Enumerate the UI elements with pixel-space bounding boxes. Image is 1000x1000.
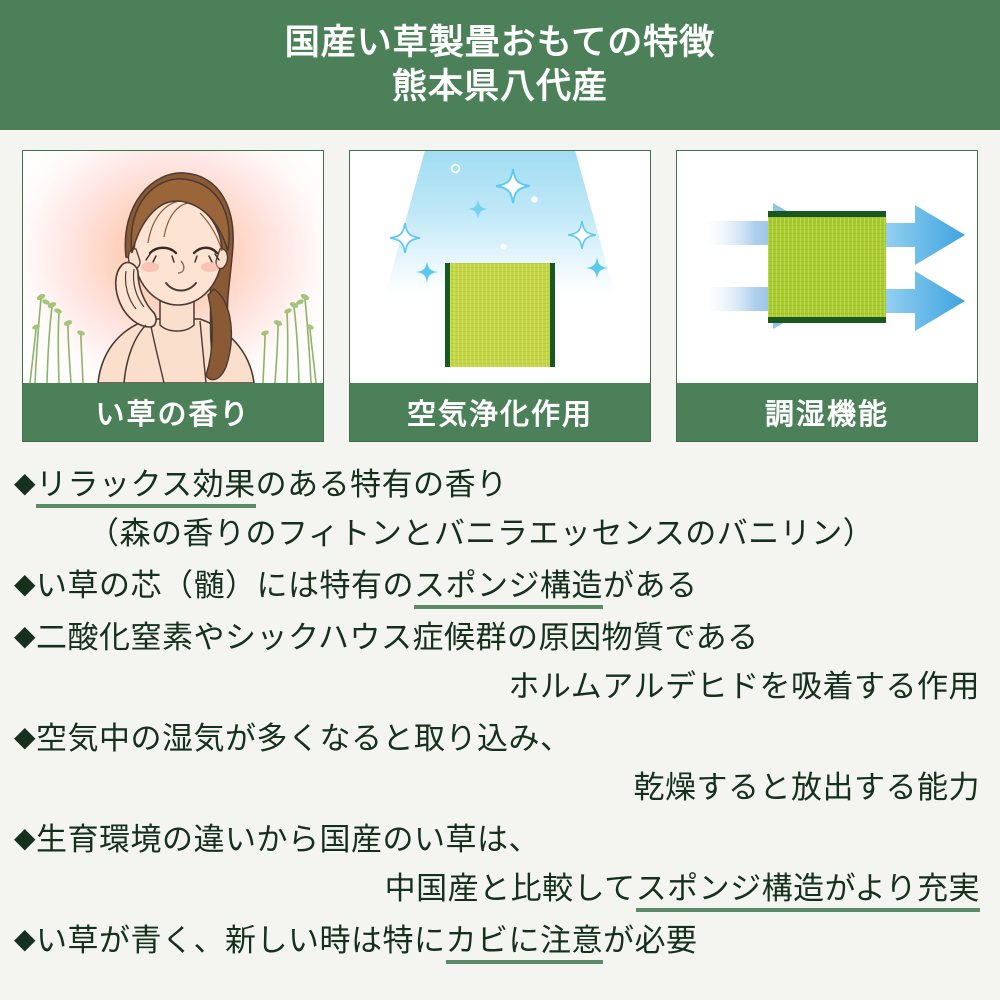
- description-text: 中国産と比較して: [385, 871, 636, 907]
- description-line: ◆生育環境の違いから国産のい草は、: [14, 813, 986, 865]
- highlighted-term: カビに注意: [446, 923, 604, 964]
- bullet-diamond-icon: ◆: [14, 567, 36, 600]
- feature-description-list: ◆リラックス効果のある特有の香り（森の香りのフィトンとバニラエッセンスのバニリン…: [0, 442, 1000, 966]
- tatami-with-moisture-flow-arrows-illustration: [677, 151, 977, 383]
- sparkle-icon: [568, 221, 596, 249]
- description-line: ◆リラックス効果のある特有の香り: [14, 458, 986, 510]
- bullet-diamond-icon: ◆: [14, 720, 36, 753]
- highlighted-term: リラックス効果: [36, 467, 256, 508]
- page-title-line2: 熊本県八代産: [392, 65, 608, 109]
- sparkle-icon: [586, 257, 608, 279]
- page-header: 国産い草製畳おもての特徴 熊本県八代産: [0, 0, 1000, 130]
- highlighted-term: スポンジ構造: [414, 568, 603, 609]
- bubble-icon: [450, 163, 461, 174]
- page-title-line1: 国産い草製畳おもての特徴: [285, 21, 716, 65]
- description-text: ホルムアルデヒドを吸着する作用: [508, 669, 980, 705]
- bullet-diamond-icon: ◆: [14, 821, 36, 854]
- description-text: がある: [603, 568, 698, 604]
- feature-card-fragrance[interactable]: い草の香り: [22, 150, 324, 442]
- tatami-with-sparkling-clean-air-beam-illustration: [350, 151, 650, 383]
- description-text: 生育環境の違いから国産のい草は、: [36, 822, 540, 858]
- description-line: ◆二酸化窒素やシックハウス症候群の原因物質である: [14, 611, 986, 663]
- bubble-icon: [500, 243, 507, 250]
- woman-portrait-icon: [68, 161, 278, 383]
- bullet-diamond-icon: ◆: [14, 466, 36, 499]
- description-text: 空気中の湿気が多くなると取り込み、: [36, 721, 572, 757]
- description-text: 乾燥すると放出する能力: [634, 770, 981, 806]
- description-line: （森の香りのフィトンとバニラエッセンスのバニリン）: [14, 510, 986, 559]
- tatami-mat-icon: [445, 263, 555, 367]
- description-text: （森の香りのフィトンとバニラエッセンスのバニリン）: [88, 516, 874, 552]
- description-text: が必要: [603, 923, 698, 959]
- sparkle-icon: [496, 169, 530, 203]
- bullet-diamond-icon: ◆: [14, 619, 36, 652]
- description-text: のある特有の香り: [256, 467, 508, 503]
- bubble-icon: [530, 195, 539, 204]
- description-line: 乾燥すると放出する能力: [14, 764, 986, 813]
- description-text: い草が青く、新しい時は特に: [36, 923, 446, 959]
- description-line: ◆い草の芯（髄）には特有のスポンジ構造がある: [14, 559, 986, 611]
- description-text: い草の芯（髄）には特有の: [36, 568, 414, 604]
- bullet-diamond-icon: ◆: [14, 922, 36, 955]
- feature-card-humidity-control-label: 調湿機能: [677, 383, 977, 441]
- feature-card-air-purification-label: 空気浄化作用: [350, 383, 650, 441]
- feature-card-fragrance-label: い草の香り: [23, 383, 323, 441]
- description-text: 二酸化窒素やシックハウス症候群の原因物質である: [36, 620, 759, 656]
- description-line: ホルムアルデヒドを吸着する作用: [14, 663, 986, 712]
- sparkle-icon: [390, 223, 420, 253]
- description-line: 中国産と比較してスポンジ構造がより充実: [14, 865, 986, 914]
- sparkle-icon: [416, 261, 438, 283]
- feature-card-row: い草の香り: [0, 130, 1000, 442]
- description-line: ◆い草が青く、新しい時は特にカビに注意が必要: [14, 914, 986, 966]
- feature-card-air-purification[interactable]: 空気浄化作用: [349, 150, 651, 442]
- feature-card-humidity-control[interactable]: 調湿機能: [676, 150, 978, 442]
- relaxed-woman-with-igusa-grass-illustration: [23, 151, 323, 383]
- tatami-mat-icon: [768, 211, 886, 323]
- description-line: ◆空気中の湿気が多くなると取り込み、: [14, 712, 986, 764]
- sparkle-icon: [468, 199, 488, 219]
- highlighted-term: スポンジ構造がより充実: [636, 871, 980, 912]
